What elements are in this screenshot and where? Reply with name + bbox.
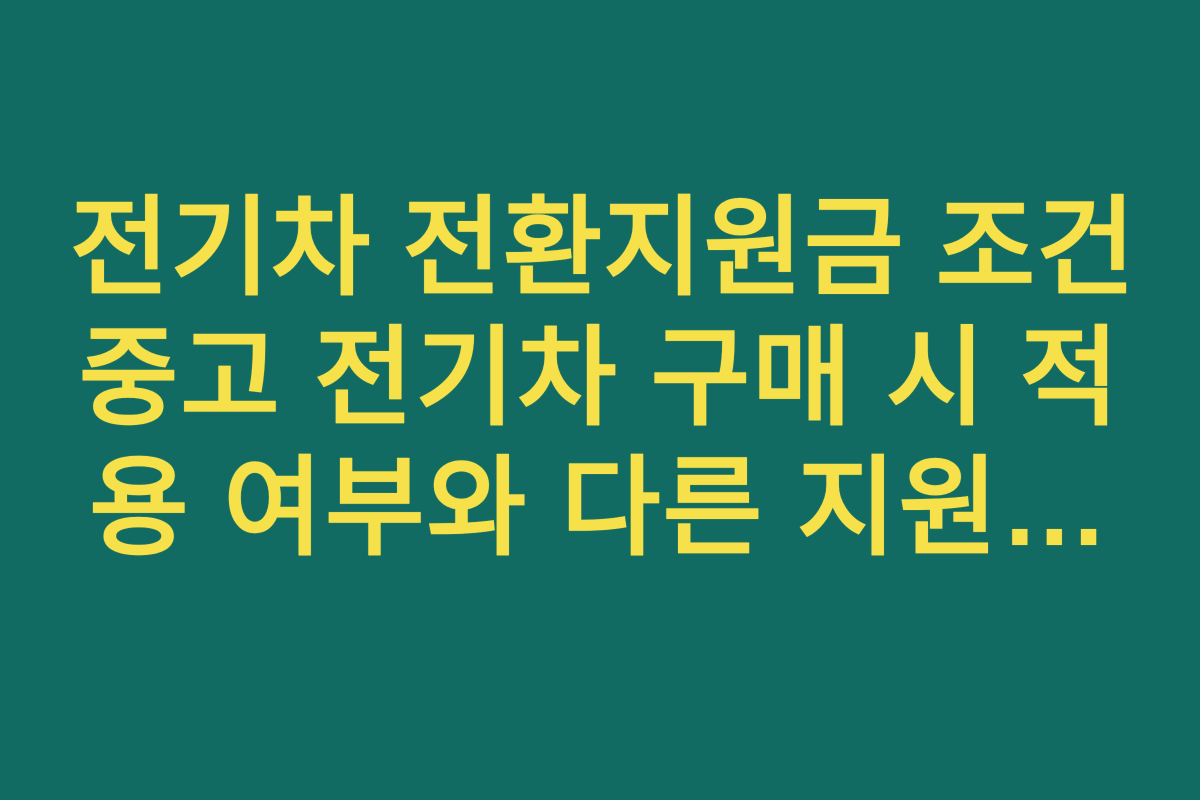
thumbnail-card: 전기차 전환지원금 조건 중고 전기차 구매 시 적 용 여부와 다른 지원… <box>0 0 1200 800</box>
headline-line-2: 중고 전기차 구매 시 적 <box>70 313 1130 443</box>
headline-line-3: 용 여부와 다른 지원… <box>70 443 1130 573</box>
headline-line-1: 전기차 전환지원금 조건 <box>70 183 1130 313</box>
headline-block: 전기차 전환지원금 조건 중고 전기차 구매 시 적 용 여부와 다른 지원… <box>70 183 1130 573</box>
